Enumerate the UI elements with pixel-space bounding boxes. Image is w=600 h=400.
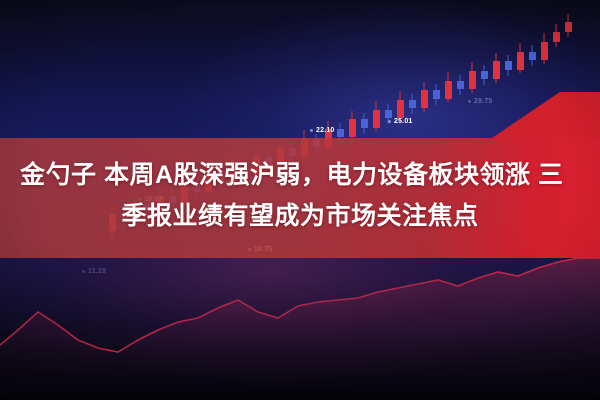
- vignette-overlay: [0, 0, 600, 400]
- news-banner: 22.1025.0129.7519.0718.7511.28 金勺子 本周A股深…: [0, 0, 600, 400]
